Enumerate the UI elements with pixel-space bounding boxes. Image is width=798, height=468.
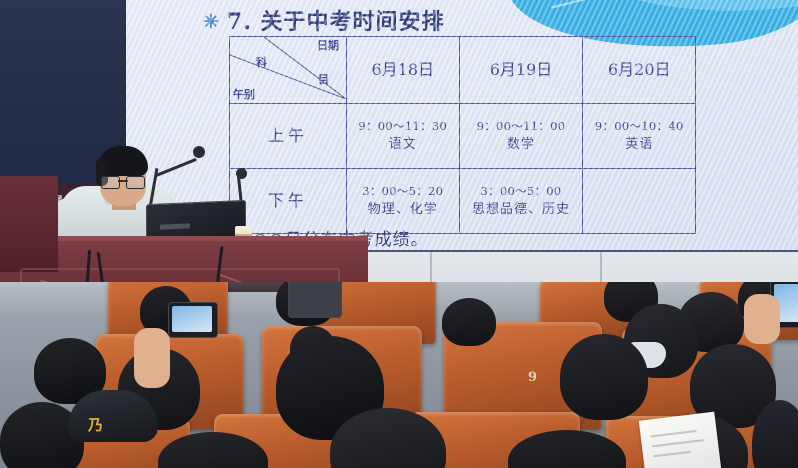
table-row: 下午 3：00～5：20 物理、化学 3：00～5：00 思想品德、历史 xyxy=(230,169,696,234)
slide-title: ✳ 7. 关于中考时间安排 xyxy=(203,4,445,36)
microphone-head-icon xyxy=(193,146,205,158)
cell-subject: 数学 xyxy=(461,137,582,153)
cell-morning-day-1: 9：00～11：30 语文 xyxy=(347,104,460,169)
cell-time: 9：00～11：30 xyxy=(348,119,458,133)
cell-afternoon-day-3-empty xyxy=(583,169,696,234)
lecture-hall-photo: ✳ 7. 关于中考时间安排 日期 科 目 午别 6月18日 6月19日 6月20… xyxy=(0,0,798,468)
exam-schedule-table: 日期 科 目 午别 6月18日 6月19日 6月20日 上午 9：00～11：3… xyxy=(229,36,696,234)
row-label-morning: 上午 xyxy=(230,104,347,169)
seat-number: 9 xyxy=(528,370,537,385)
column-header-day-2: 6月19日 xyxy=(459,37,583,104)
cell-afternoon-day-2: 3：00～5：00 思想品德、历史 xyxy=(459,169,583,234)
tablet-device xyxy=(288,282,342,318)
cell-subject: 英语 xyxy=(584,137,694,153)
handout-paper xyxy=(639,412,722,468)
bullet-star-icon: ✳ xyxy=(203,13,220,32)
corner-label-subject-bottom: 目 xyxy=(318,73,329,87)
cell-time: 9：00～11：00 xyxy=(461,119,582,133)
baseball-cap xyxy=(68,390,158,442)
cell-time: 3：00～5：00 xyxy=(461,184,582,198)
paper-line xyxy=(652,439,704,447)
corner-label-half-day: 午别 xyxy=(233,88,255,102)
cell-morning-day-2: 9：00～11：00 数学 xyxy=(459,104,583,169)
corner-label-subject-top: 科 xyxy=(256,56,267,70)
cell-subject: 物理、化学 xyxy=(348,202,458,218)
cell-subject: 语文 xyxy=(348,137,458,153)
column-header-day-1: 6月18日 xyxy=(347,37,460,104)
paper-line xyxy=(651,430,697,437)
table-row: 上午 9：00～11：30 语文 9：00～11：00 数学 9：00～10：4… xyxy=(230,104,696,169)
table-header-row: 日期 科 目 午别 6月18日 6月19日 6月20日 xyxy=(230,37,696,104)
audience-area: 13 9 xyxy=(0,282,798,468)
cell-time: 9：00～10：40 xyxy=(584,119,694,133)
slide-title-text: 7. 关于中考时间安排 xyxy=(227,4,445,36)
hand xyxy=(134,328,170,388)
audience-head xyxy=(560,334,648,420)
hand xyxy=(744,294,780,344)
cell-subject: 思想品德、历史 xyxy=(461,202,582,218)
glasses-icon xyxy=(101,176,145,187)
cell-afternoon-day-1: 3：00～5：20 物理、化学 xyxy=(347,169,460,234)
table-corner-cell: 日期 科 目 午别 xyxy=(230,37,347,104)
cap-logo-icon: 乃 xyxy=(88,414,103,435)
podium-left-block xyxy=(0,176,58,272)
microphone-secondary-head-icon xyxy=(236,168,247,179)
smartphone-screen xyxy=(172,306,212,332)
column-header-day-3: 6月20日 xyxy=(583,37,696,104)
paper-line xyxy=(653,451,691,457)
cell-time: 3：00～5：20 xyxy=(348,184,458,198)
corner-label-date: 日期 xyxy=(317,39,339,53)
row-label-afternoon: 下午 xyxy=(230,169,347,234)
audience-head xyxy=(442,298,496,346)
cell-morning-day-3: 9：00～10：40 英语 xyxy=(583,104,696,169)
